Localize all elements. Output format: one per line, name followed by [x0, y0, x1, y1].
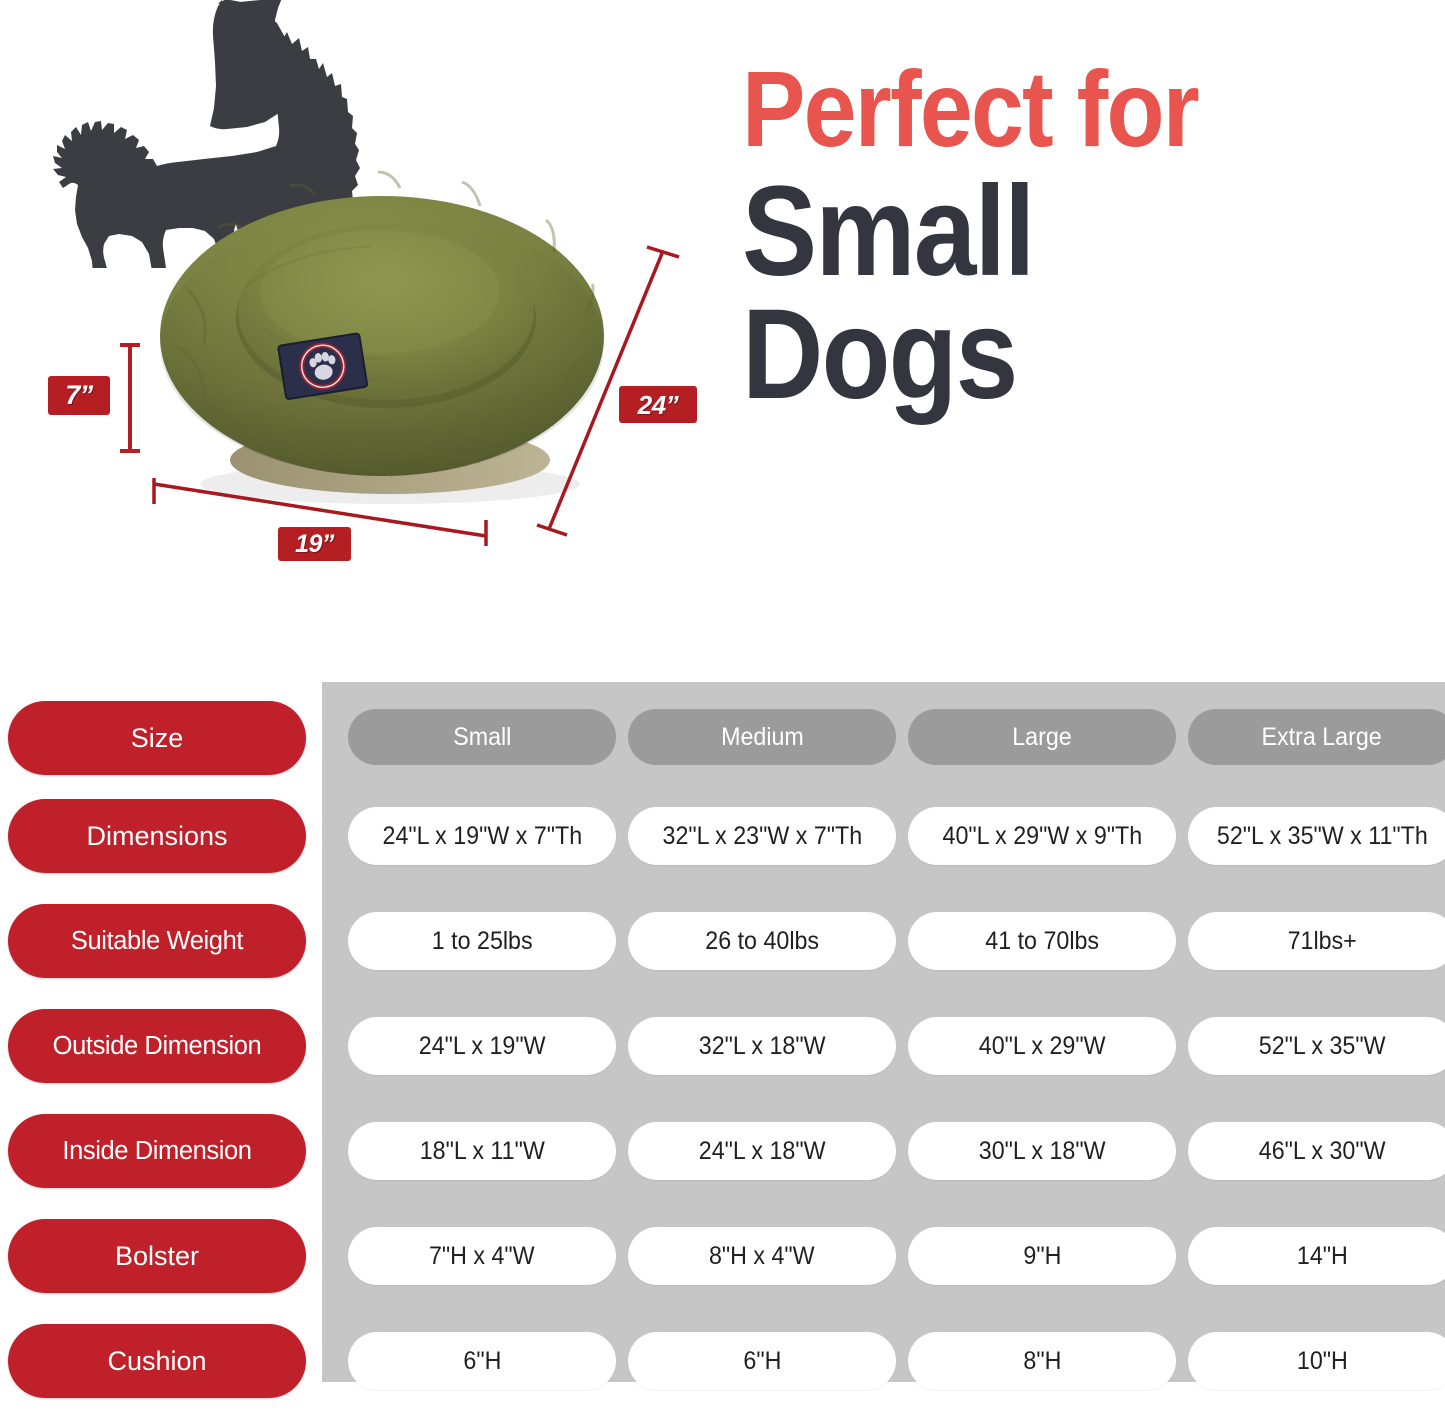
spec-cell: 30"L x 18"W: [908, 1122, 1176, 1180]
spec-cell: 7"H x 4"W: [348, 1227, 616, 1285]
spec-cell-value: 41 to 70lbs: [985, 927, 1099, 956]
width-measure-badge: 19”: [278, 527, 351, 561]
spec-cell: 52"L x 35"W x 11"Th: [1188, 807, 1445, 865]
spec-cell-value: 32"L x 23"W x 7"Th: [662, 822, 862, 851]
spec-cell-value: 8"H x 4"W: [709, 1242, 815, 1271]
spec-cell-value: 52"L x 35"W: [1259, 1032, 1386, 1061]
spec-column-header: Small: [348, 709, 616, 765]
spec-cell: 40"L x 29"W x 9"Th: [908, 807, 1176, 865]
spec-cell-value: 52"L x 35"W x 11"Th: [1217, 822, 1428, 851]
hero-section: 7” 19” 24” Pe: [0, 0, 1445, 660]
spec-cell-value: 40"L x 29"W: [979, 1032, 1106, 1061]
spec-column-header: Large: [908, 709, 1176, 765]
spec-cell-value: 6"H: [463, 1347, 501, 1376]
spec-cell-grid: SmallMediumLargeExtra Large24"L x 19"W x…: [322, 682, 1445, 1382]
headline-line-3: Dogs: [742, 294, 1358, 416]
hero-headline: Perfect for Small Dogs: [742, 58, 1442, 416]
spec-cell-value: 9"H: [1023, 1242, 1061, 1271]
spec-cell: 46"L x 30"W: [1188, 1122, 1445, 1180]
spec-cell: 1 to 25lbs: [348, 912, 616, 970]
spec-cell-value: 24"L x 18"W: [699, 1137, 826, 1166]
spec-cell-value: 30"L x 18"W: [979, 1137, 1106, 1166]
spec-cell: 8"H: [908, 1332, 1176, 1390]
spec-cell: 24"L x 19"W: [348, 1017, 616, 1075]
spec-column-header: Extra Large: [1188, 709, 1445, 765]
spec-cell-value: 46"L x 30"W: [1259, 1137, 1386, 1166]
spec-cell: 52"L x 35"W: [1188, 1017, 1445, 1075]
spec-cell-value: 6"H: [743, 1347, 781, 1376]
spec-cell-value: 1 to 25lbs: [432, 927, 533, 956]
spec-cell-value: 18"L x 11"W: [419, 1137, 544, 1166]
spec-cell: 9"H: [908, 1227, 1176, 1285]
spec-row-label: Suitable Weight: [8, 904, 306, 978]
spec-cell-value: 10"H: [1297, 1347, 1348, 1376]
spec-row-label: Bolster: [8, 1219, 306, 1293]
spec-cell-value: 14"H: [1297, 1242, 1348, 1271]
spec-cell: 41 to 70lbs: [908, 912, 1176, 970]
spec-row-label: Cushion: [8, 1324, 306, 1398]
spec-cell: 18"L x 11"W: [348, 1122, 616, 1180]
spec-cell: 71lbs+: [1188, 912, 1445, 970]
spec-cell-value: 71lbs+: [1287, 927, 1356, 956]
height-measure-line: [118, 343, 142, 453]
spec-cell-value: 40"L x 29"W x 9"Th: [942, 822, 1142, 851]
headline-line-1: Perfect for: [742, 58, 1358, 161]
spec-cell: 24"L x 19"W x 7"Th: [348, 807, 616, 865]
spec-cell-value: 7"H x 4"W: [429, 1242, 535, 1271]
spec-cell: 14"H: [1188, 1227, 1445, 1285]
spec-cell-value: 26 to 40lbs: [705, 927, 819, 956]
spec-cell: 8"H x 4"W: [628, 1227, 896, 1285]
spec-cell: 40"L x 29"W: [908, 1017, 1176, 1075]
spec-row-label: Inside Dimension: [8, 1114, 306, 1188]
size-spec-table: SizeDimensionsSuitable WeightOutside Dim…: [0, 682, 1445, 1394]
spec-cell-value: 24"L x 19"W x 7"Th: [382, 822, 582, 851]
spec-cell-value: 24"L x 19"W: [419, 1032, 546, 1061]
spec-row-label-column: SizeDimensionsSuitable WeightOutside Dim…: [8, 682, 306, 1382]
product-brand-tag: [278, 333, 367, 399]
spec-cell-value: 32"L x 18"W: [699, 1032, 826, 1061]
length-measure-badge: 24”: [619, 386, 697, 423]
product-spec-infographic: 7” 19” 24” Pe: [0, 0, 1445, 1417]
spec-cell: 26 to 40lbs: [628, 912, 896, 970]
spec-row-label: Outside Dimension: [8, 1009, 306, 1083]
spec-cell-value: 8"H: [1023, 1347, 1061, 1376]
spec-cell: 32"L x 23"W x 7"Th: [628, 807, 896, 865]
spec-cell: 6"H: [348, 1332, 616, 1390]
spec-row-label: Size: [8, 701, 306, 775]
spec-row-label: Dimensions: [8, 799, 306, 873]
headline-line-2: Small: [742, 171, 1358, 293]
spec-cell: 10"H: [1188, 1332, 1445, 1390]
spec-column-header: Medium: [628, 709, 896, 765]
spec-cell: 24"L x 18"W: [628, 1122, 896, 1180]
spec-cell: 6"H: [628, 1332, 896, 1390]
spec-cell: 32"L x 18"W: [628, 1017, 896, 1075]
height-measure-badge: 7”: [48, 376, 110, 415]
